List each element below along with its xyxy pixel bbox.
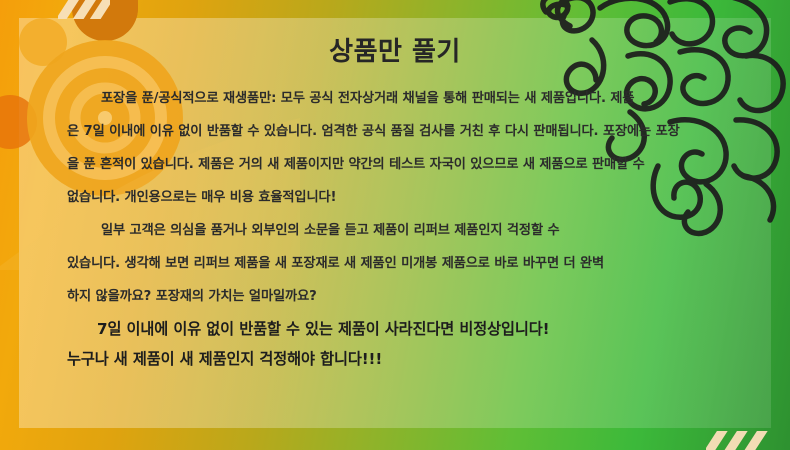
body-line-3: 을 푼 흔적이 있습니다. 제품은 거의 새 제품이지만 약간의 테스트 자국이… <box>67 149 723 180</box>
stripe-1 <box>58 0 84 19</box>
body-line-6: 있습니다. 생각해 보면 리퍼브 제품을 새 포장재로 새 제품인 미개봉 제품… <box>67 248 723 279</box>
diagonal-stripes-top-left <box>58 0 110 19</box>
stripe-1 <box>706 431 734 450</box>
body-line-1: 포장을 푼/공식적으로 재생품만: 모두 공식 전자상거래 채널을 통해 판매되… <box>67 83 723 114</box>
body-line-7: 하지 않을까요? 포장재의 가치는 얼마일까요? <box>67 281 723 312</box>
body-line-4: 없습니다. 개인용으로는 매우 비용 효율적입니다! <box>67 182 723 213</box>
stripe-2 <box>62 0 100 19</box>
slide-root: { "slide": { "title": "상품만 풀기", "paragra… <box>0 0 790 450</box>
stripe-3 <box>735 431 773 450</box>
body-line-8: 7일 이내에 이유 없이 반품할 수 있는 제품이 사라진다면 비정상입니다! <box>67 314 723 344</box>
diagonal-stripes-bottom-right <box>706 431 776 450</box>
slide-content: 상품만 풀기 포장을 푼/공식적으로 재생품만: 모두 공식 전자상거래 채널을… <box>19 18 771 428</box>
stripe-3 <box>79 0 110 19</box>
body-line-5: 일부 고객은 의심을 품거나 외부인의 소문을 듣고 제품이 리퍼브 제품인지 … <box>67 215 723 246</box>
body-line-2: 은 7일 이내에 이유 없이 반품할 수 있습니다. 엄격한 공식 품질 검사를… <box>67 116 723 147</box>
page-title: 상품만 풀기 <box>67 36 723 69</box>
body-line-9: 누구나 새 제품이 새 제품인지 걱정해야 합니다!!! <box>67 346 723 373</box>
stripe-2 <box>715 431 753 450</box>
